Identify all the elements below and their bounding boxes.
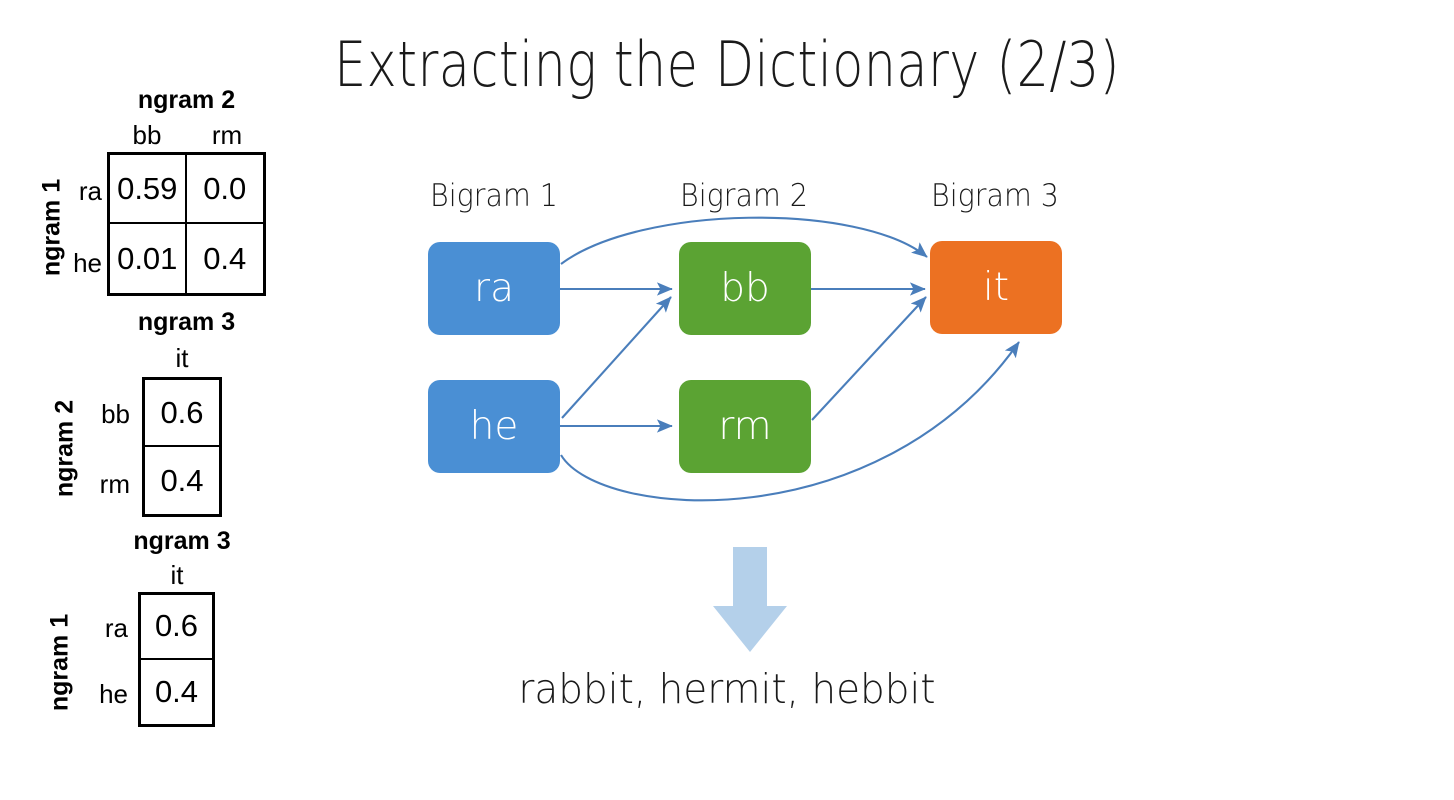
result-text: rabbit, hermit, hebbit xyxy=(36,665,1417,713)
column-header-bigram-3: Bigram 3 xyxy=(903,178,1087,214)
matrix-3-col-header-it: it xyxy=(137,560,217,591)
node-rm-label: rm xyxy=(718,404,771,449)
node-he[interactable]: he xyxy=(428,380,560,473)
column-header-bigram-2: Bigram 2 xyxy=(652,178,836,214)
node-it-label: it xyxy=(983,265,1009,310)
node-bb-label: bb xyxy=(720,266,770,311)
matrix-1-cell-he-rm: 0.4 xyxy=(187,224,264,293)
matrix-1-row-header-ra: ra xyxy=(52,176,102,207)
matrix-1-bottom-label: ngram 3 xyxy=(107,308,266,337)
node-bb[interactable]: bb xyxy=(679,242,811,335)
matrix-2-col-header-it: it xyxy=(142,343,222,374)
page-title: Extracting the Dictionary (2/3) xyxy=(131,28,1323,101)
matrix-2-cell-rm-it: 0.4 xyxy=(145,447,219,514)
matrix-1-top-label: ngram 2 xyxy=(107,86,266,115)
matrix-1-cell-ra-bb: 0.59 xyxy=(110,155,187,224)
matrix-2-bottom-label: ngram 3 xyxy=(72,527,292,556)
matrix-1-grid: 0.59 0.0 0.01 0.4 xyxy=(107,152,266,296)
node-ra[interactable]: ra xyxy=(428,242,560,335)
matrix-1-col-header-bb: bb xyxy=(107,120,187,151)
matrix-2-grid: 0.6 0.4 xyxy=(142,377,222,517)
matrix-1-cell-ra-rm: 0.0 xyxy=(187,155,264,224)
node-ra-label: ra xyxy=(474,266,514,311)
matrix-1-col-header-rm: rm xyxy=(187,120,267,151)
matrix-2-side-label: ngram 2 xyxy=(51,394,80,504)
node-he-label: he xyxy=(470,404,519,449)
matrix-1-cell-he-bb: 0.01 xyxy=(110,224,187,293)
matrix-3-cell-ra-it: 0.6 xyxy=(141,595,212,660)
node-it[interactable]: it xyxy=(930,241,1062,334)
matrix-2-cell-bb-it: 0.6 xyxy=(145,380,219,447)
column-header-bigram-1: Bigram 1 xyxy=(402,178,586,214)
matrix-3-row-header-ra: ra xyxy=(78,613,128,644)
node-rm[interactable]: rm xyxy=(679,380,811,473)
down-arrow-icon xyxy=(713,547,787,652)
matrix-1-row-header-he: he xyxy=(52,248,102,279)
matrix-2-row-header-bb: bb xyxy=(80,399,130,430)
matrix-2-row-header-rm: rm xyxy=(80,469,130,500)
edge-rm-it xyxy=(812,297,926,420)
edge-he-bb xyxy=(562,297,671,418)
